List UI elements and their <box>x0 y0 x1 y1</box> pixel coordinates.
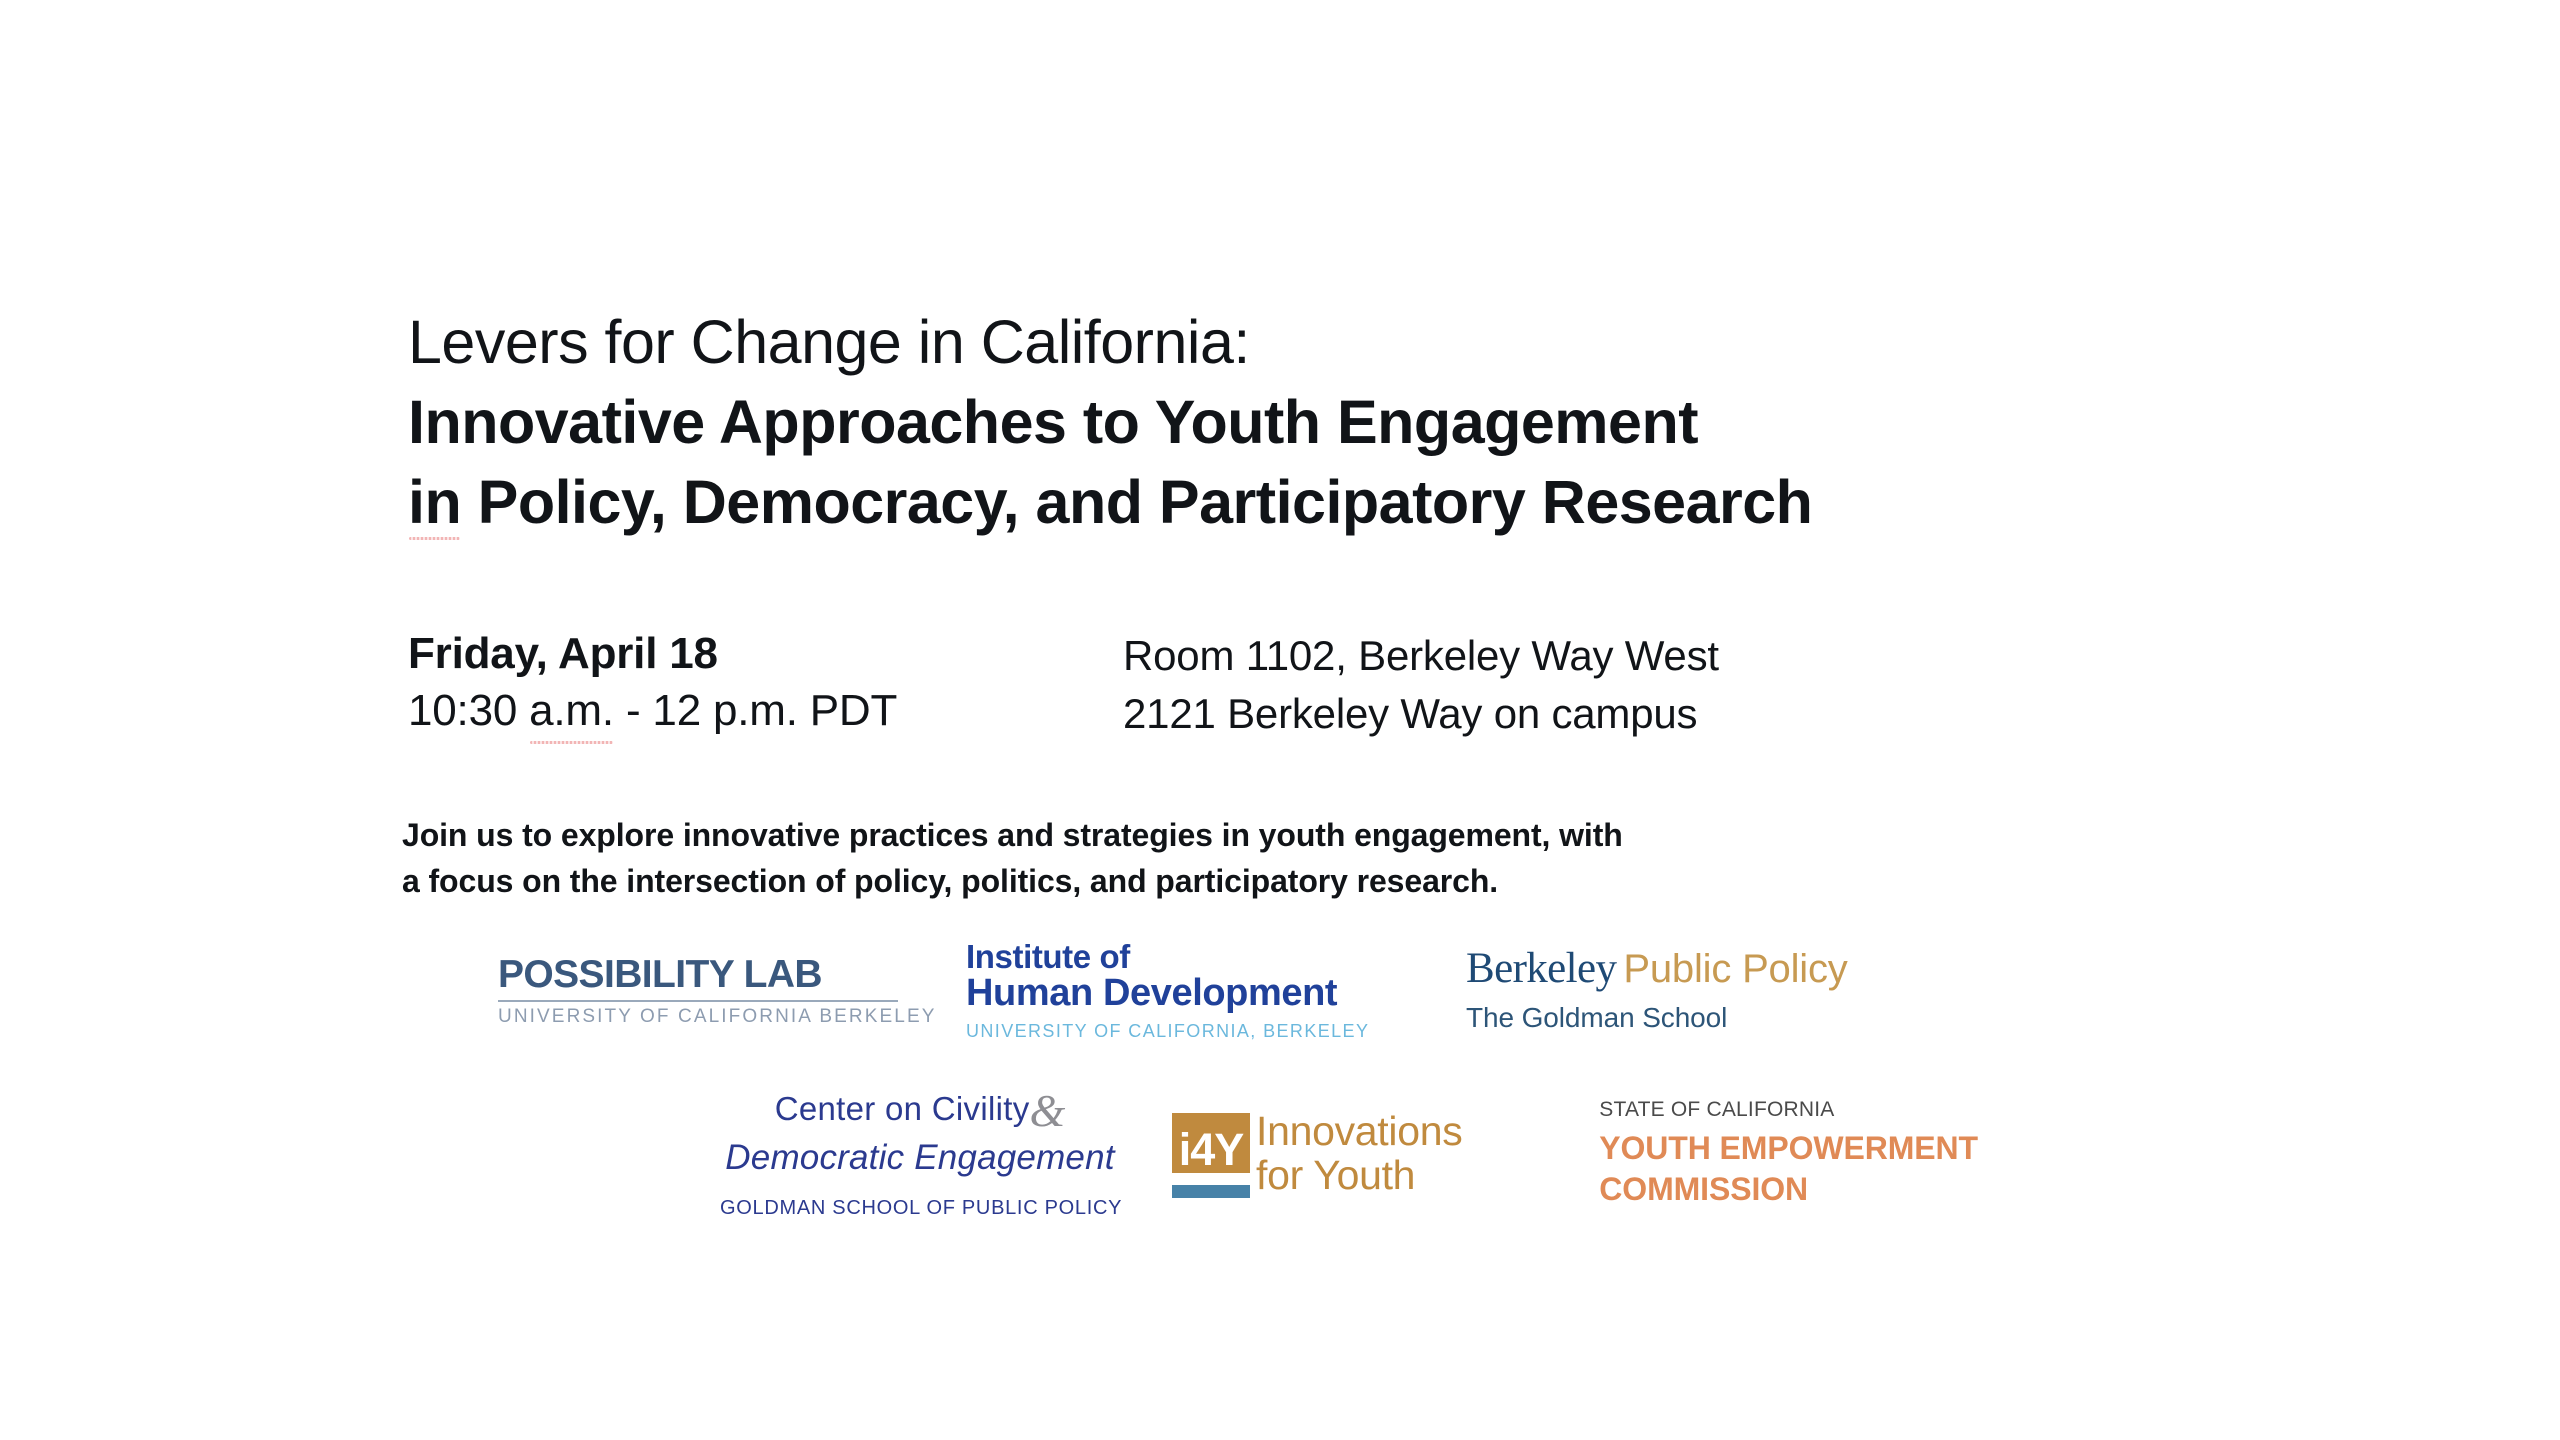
civility-line-1: Center on Civility <box>775 1090 1030 1127</box>
event-date-column: Friday, April 18 10:30 a.m. - 12 p.m. PD… <box>408 628 1123 737</box>
bpp-berkeley-word: Berkeley <box>1466 945 1616 992</box>
ihd-line-2: Human Development <box>966 974 1366 1013</box>
event-location-address: 2121 Berkeley Way on campus <box>1123 689 2023 738</box>
sponsor-logo-row-1: POSSIBILITY LAB UNIVERSITY OF CALIFORNIA… <box>498 940 1918 1040</box>
i4y-text: Innovations for Youth <box>1256 1110 1462 1198</box>
logo-center-on-civility: Center on Civility& Democratic Engagemen… <box>720 1088 1120 1220</box>
possibility-lab-rule <box>498 1000 898 1002</box>
event-description-line-1: Join us to explore innovative practices … <box>402 812 2042 858</box>
sponsor-logo-row-2: Center on Civility& Democratic Engagemen… <box>720 1088 1970 1220</box>
civility-subtitle: GOLDMAN SCHOOL OF PUBLIC POLICY <box>720 1197 1120 1220</box>
event-time-start: 10:30 <box>408 686 529 735</box>
event-location-column: Room 1102, Berkeley Way West 2121 Berkel… <box>1123 628 2023 738</box>
logo-youth-empowerment-commission: STATE OF CALIFORNIA YOUTH EMPOWERMENT CO… <box>1561 1088 1970 1220</box>
i4y-blue-bar <box>1172 1185 1250 1198</box>
possibility-lab-wordmark: POSSIBILITY LAB <box>498 955 898 994</box>
event-time-end: - 12 p.m. PDT <box>614 686 897 735</box>
yec-line-2: COMMISSION <box>1599 1169 1959 1210</box>
event-description-line-2: a focus on the intersection of policy, p… <box>402 858 2042 904</box>
event-time: 10:30 a.m. - 12 p.m. PDT <box>408 685 1123 736</box>
logo-institute-human-development: Institute of Human Development UNIVERSIT… <box>938 940 1426 1040</box>
event-details: Friday, April 18 10:30 a.m. - 12 p.m. PD… <box>408 628 2108 738</box>
i4y-line-2: for Youth <box>1256 1154 1462 1198</box>
ihd-subtitle: UNIVERSITY OF CALIFORNIA, BERKELEY <box>966 1022 1366 1040</box>
ampersand-glyph: & <box>1030 1085 1066 1136</box>
i4y-line-1: Innovations <box>1256 1110 1462 1154</box>
bpp-subtitle: The Goldman School <box>1466 1002 1846 1034</box>
title-line-3: in Policy, Democracy, and Participatory … <box>408 472 2288 533</box>
logo-berkeley-public-policy: BerkeleyPublic Policy The Goldman School <box>1426 940 1896 1040</box>
event-description: Join us to explore innovative practices … <box>402 812 2042 904</box>
possibility-lab-subtitle: UNIVERSITY OF CALIFORNIA BERKELEY <box>498 1007 898 1026</box>
title-line-2: Innovative Approaches to Youth Engagemen… <box>408 392 2288 453</box>
title-line-1: Levers for Change in California: <box>408 312 2288 373</box>
event-location-room: Room 1102, Berkeley Way West <box>1123 631 2023 680</box>
bpp-public-policy-word: Public Policy <box>1623 947 1847 991</box>
yec-wordmark: YOUTH EMPOWERMENT COMMISSION <box>1599 1128 1959 1210</box>
ihd-line-1: Institute of <box>966 940 1366 974</box>
page-title: Levers for Change in California: Innovat… <box>408 312 2288 533</box>
sponsor-logos: POSSIBILITY LAB UNIVERSITY OF CALIFORNIA… <box>0 940 2560 1240</box>
yec-state-label: STATE OF CALIFORNIA <box>1599 1099 1959 1120</box>
spellcheck-underline-am: a.m. <box>529 685 614 736</box>
logo-possibility-lab: POSSIBILITY LAB UNIVERSITY OF CALIFORNIA… <box>498 940 938 1040</box>
event-date: Friday, April 18 <box>408 628 1123 679</box>
spellcheck-underline-in: in <box>408 472 461 533</box>
logo-innovations-for-youth: i4Y Innovations for Youth <box>1120 1088 1561 1220</box>
bpp-wordmark: BerkeleyPublic Policy <box>1466 947 1846 990</box>
civility-line-1-wrapper: Center on Civility& <box>720 1088 1120 1134</box>
civility-line-2: Democratic Engagement <box>720 1140 1120 1175</box>
title-line-3-rest: Policy, Democracy, and Participatory Res… <box>461 468 1812 536</box>
i4y-letters: i4Y <box>1172 1127 1250 1172</box>
yec-line-1: YOUTH EMPOWERMENT <box>1599 1128 1959 1169</box>
i4y-mark-icon: i4Y <box>1172 1113 1250 1197</box>
event-flyer-slide: Levers for Change in California: Innovat… <box>0 0 2560 1440</box>
